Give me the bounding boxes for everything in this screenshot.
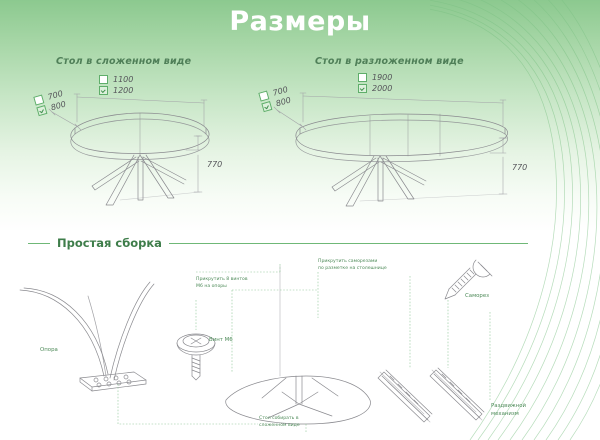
checkbox-unchecked-icon[interactable] (99, 75, 108, 84)
option-label: 1900 (372, 73, 392, 82)
poster-page: Размеры Стол в сложенном виде Стол в раз… (0, 0, 600, 440)
header-rule-left (28, 243, 50, 244)
option-row[interactable]: 1100 (99, 74, 133, 85)
checkbox-unchecked-icon[interactable] (358, 73, 367, 82)
page-title: Размеры (0, 6, 600, 37)
assembly-title: Простая сборка (57, 236, 162, 250)
option-row[interactable]: 1900 (358, 72, 392, 83)
folded-width-options: 1100 1200 (99, 74, 133, 96)
folded-height-value: 770 (207, 160, 222, 169)
header-rule-right (169, 243, 528, 244)
option-label: 2000 (372, 84, 392, 93)
checkbox-checked-icon[interactable] (261, 101, 272, 112)
part-label-mechanism: Раздвижной механизм (491, 403, 526, 419)
checkbox-checked-icon[interactable] (358, 84, 367, 93)
unfolded-height-value: 770 (512, 163, 527, 172)
option-label: 1100 (113, 75, 133, 84)
unfolded-table-heading: Стол в разложенном виде (315, 56, 464, 67)
unfolded-width-options: 1900 2000 (358, 72, 392, 94)
option-row[interactable]: 1200 (99, 85, 133, 96)
checkbox-checked-icon[interactable] (99, 86, 108, 95)
option-row[interactable]: 2000 (358, 83, 392, 94)
part-label-screw: Саморез (465, 293, 489, 301)
assembly-section-header: Простая сборка (28, 236, 528, 250)
assembly-note-screws: Прикрутить саморезами по разметке на сто… (318, 259, 387, 272)
checkbox-checked-icon[interactable] (36, 105, 47, 116)
assembly-note-folded: Стол собирать в сложенном виде (259, 416, 300, 429)
assembly-note-bolts: Прикрутить 8 винтов М6 на опоры (196, 277, 248, 290)
part-label-leg: Опора (40, 347, 58, 355)
folded-table-heading: Стол в сложенном виде (56, 56, 191, 67)
option-label: 1200 (113, 86, 133, 95)
part-label-bolt: Винт М6 (209, 337, 233, 345)
